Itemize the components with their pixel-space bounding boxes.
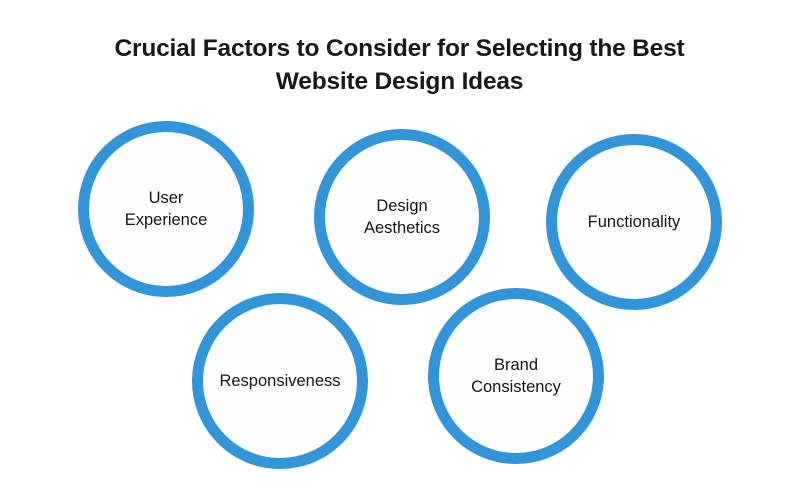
circle-label-user-experience: User Experience [119, 187, 214, 231]
circle-label-brand-consistency: Brand Consistency [465, 354, 567, 398]
circle-user-experience: User Experience [78, 121, 254, 297]
circle-design-aesthetics: Design Aesthetics [314, 129, 490, 305]
circle-label-design-aesthetics: Design Aesthetics [358, 195, 446, 239]
circle-label-functionality: Functionality [582, 211, 687, 233]
page-title: Crucial Factors to Consider for Selectin… [0, 32, 799, 98]
circle-label-responsiveness: Responsiveness [217, 370, 342, 392]
circle-functionality: Functionality [546, 134, 722, 310]
circle-responsiveness: Responsiveness [192, 293, 368, 469]
circle-brand-consistency: Brand Consistency [428, 288, 604, 464]
page-title-line-2: Website Design Ideas [0, 65, 799, 98]
infographic-canvas: Crucial Factors to Consider for Selectin… [0, 0, 799, 500]
page-title-line-1: Crucial Factors to Consider for Selectin… [0, 32, 799, 65]
